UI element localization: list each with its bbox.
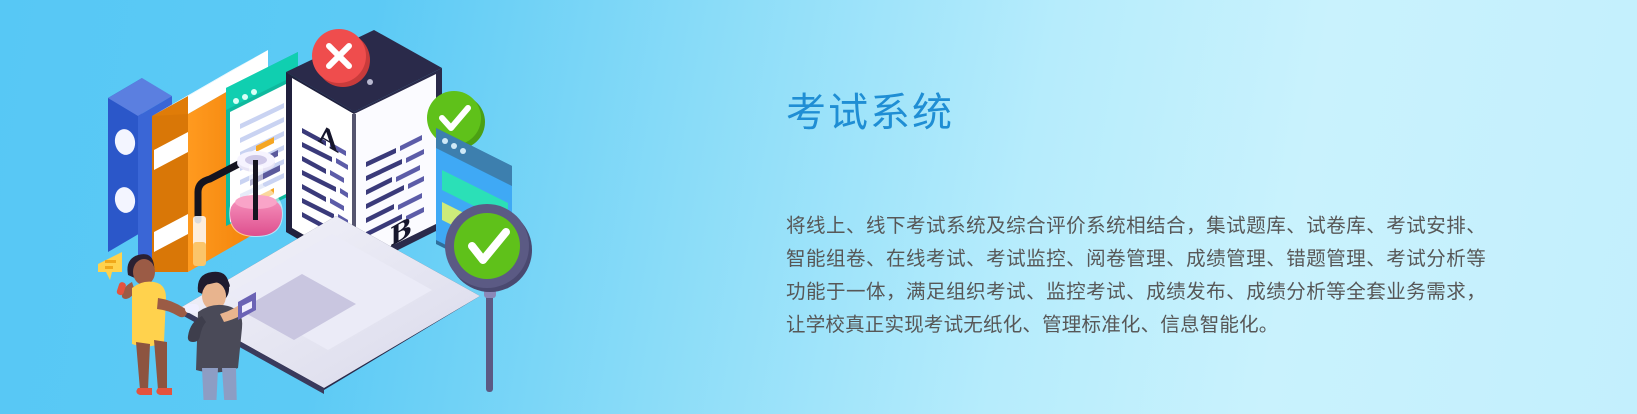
- exam-system-banner: A B: [0, 0, 1637, 414]
- person-woman-icon: [98, 252, 199, 395]
- banner-description: 将线上、线下考试系统及综合评价系统相结合，集试题库、试卷库、考试安排、智能组卷、…: [786, 140, 1486, 341]
- page-title: 考试系统: [786, 86, 1506, 140]
- banner-text-column: 考试系统 将线上、线下考试系统及综合评价系统相结合，集试题库、试卷库、考试安排、…: [786, 86, 1506, 341]
- exam-system-illustration: A B: [80, 20, 600, 400]
